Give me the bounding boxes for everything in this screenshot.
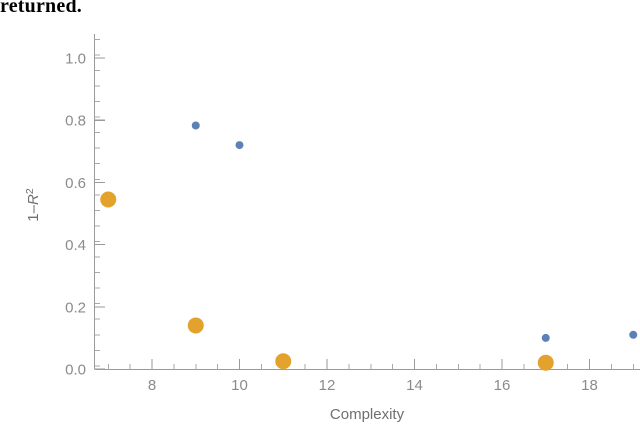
y-tick-label: 0.4 [65,237,86,254]
y-axis-title-prefix: 1– [25,204,42,221]
data-point[interactable] [188,317,204,333]
y-tick-label: 0.2 [65,299,86,316]
data-point[interactable] [542,334,550,342]
scatter-plot: 0.00.20.40.60.81.0 81012141618 Complexit… [0,0,640,432]
y-tick-label: 0.8 [65,113,86,130]
y-axis-title-exponent: 2 [24,188,36,194]
y-tick-label: 1.0 [65,51,86,68]
data-point[interactable] [100,192,116,208]
data-point[interactable] [236,141,244,149]
data-point[interactable] [275,353,291,369]
x-axis-title: Complexity [330,406,405,423]
svg-text:1–R2: 1–R2 [24,188,42,222]
series-orange-series [100,192,554,371]
x-axis-ticks [108,359,633,370]
data-point[interactable] [538,355,554,371]
data-point-layer [100,121,637,370]
y-axis-tick-labels: 0.00.20.40.60.81.0 [65,51,86,379]
y-axis-title-variable: R [25,194,42,205]
x-axis: 81012141618 [95,359,640,394]
x-tick-label: 14 [406,377,423,394]
series-blue-series [192,121,638,341]
x-tick-label: 18 [581,377,598,394]
data-point[interactable] [629,331,637,339]
x-tick-label: 12 [319,377,336,394]
y-axis: 0.00.20.40.60.81.0 [65,34,105,379]
y-axis-title: 1–R2 [24,188,42,222]
y-tick-label: 0.0 [65,362,86,379]
x-tick-label: 10 [231,377,248,394]
x-tick-label: 8 [148,377,156,394]
data-point[interactable] [192,121,200,129]
y-tick-label: 0.6 [65,175,86,192]
x-axis-tick-labels: 81012141618 [148,377,598,394]
plot-canvas: 0.00.20.40.60.81.0 81012141618 Complexit… [0,0,640,432]
x-tick-label: 16 [494,377,511,394]
